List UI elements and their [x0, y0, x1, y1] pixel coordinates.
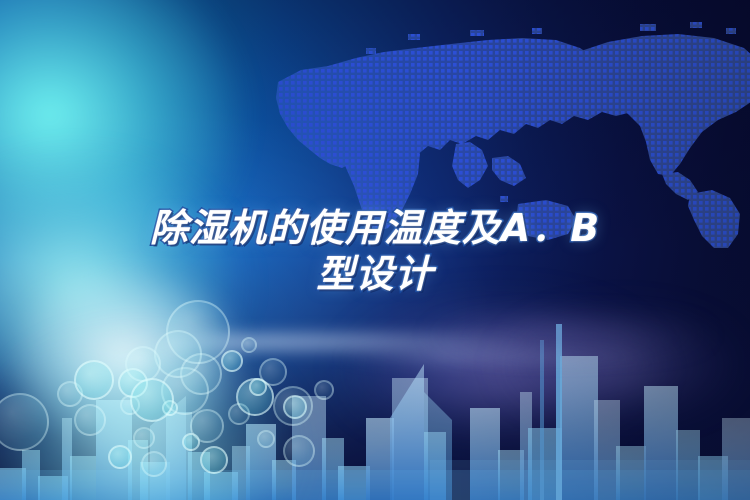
title-line-1: 除湿机的使用温度及A．B: [0, 205, 750, 251]
title-line-2: 型设计: [0, 251, 750, 297]
banner-title: 除湿机的使用温度及A．B 型设计: [0, 205, 750, 297]
banner-image: 除湿机的使用温度及A．B 型设计: [0, 0, 750, 500]
light-streak-upper: [150, 334, 550, 350]
light-streak-lower: [330, 352, 660, 362]
